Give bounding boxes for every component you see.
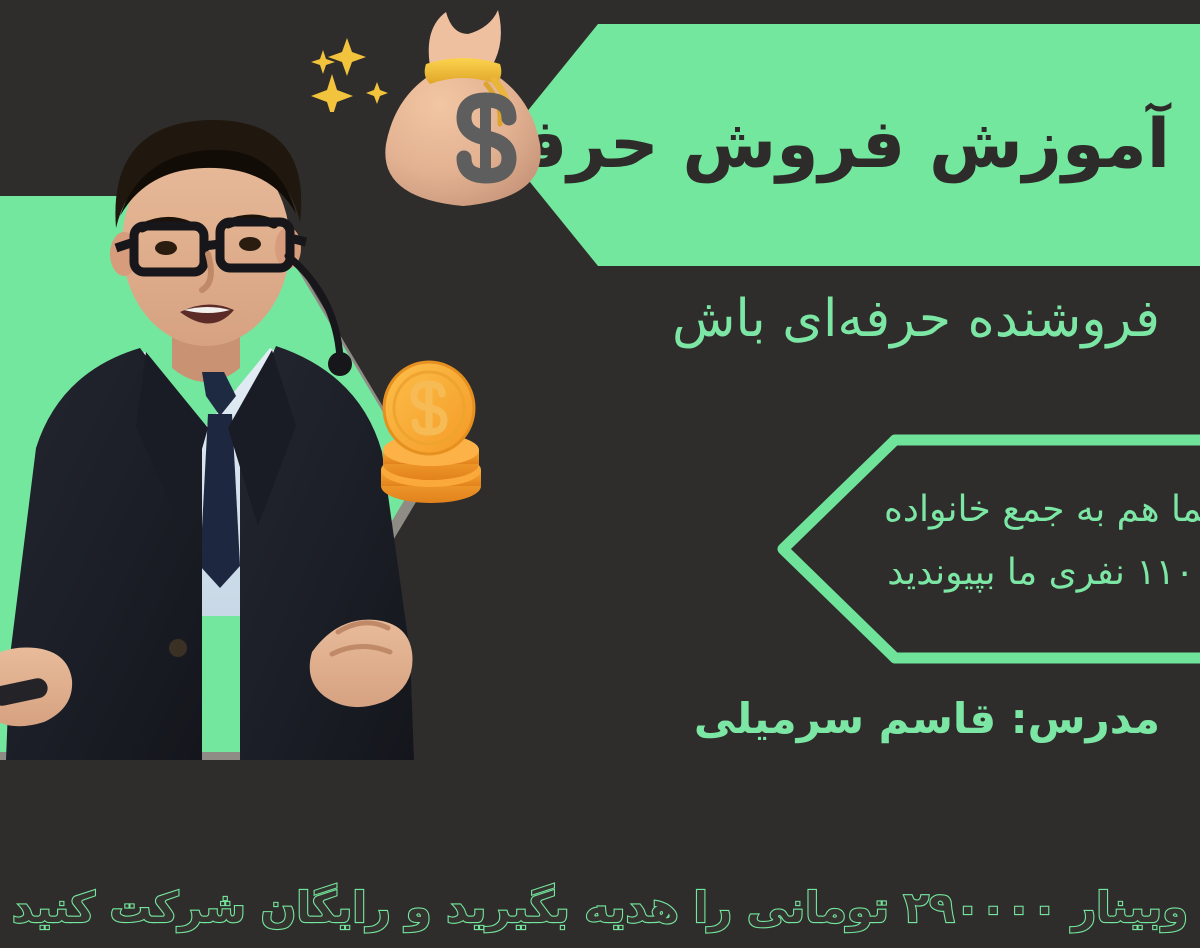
- callout-line-2: ۱۱۰۰۰ نفری ما بپیوندید: [863, 541, 1200, 604]
- poster-canvas: آموزش فروش حرفه‌ای: [0, 0, 1200, 948]
- instructor-text: مدرس: قاسم سرمیلی: [460, 694, 1160, 743]
- callout-line-1: شما هم به جمع خانواده: [863, 478, 1200, 541]
- members-callout-box: شما هم به جمع خانواده ۱۱۰۰۰ نفری ما بپیو…: [775, 432, 1200, 666]
- coin-stack-icon: [372, 358, 490, 508]
- members-callout-text: شما هم به جمع خانواده ۱۱۰۰۰ نفری ما بپیو…: [863, 478, 1200, 604]
- money-bag-icon: [368, 8, 558, 213]
- headline-banner: آموزش فروش حرفه‌ای: [500, 24, 1200, 266]
- cta-text: وبینار ۲۹۰۰۰۰ تومانی را هدیه بگیرید و را…: [0, 883, 1200, 932]
- subtitle-text: فروشنده حرفه‌ای باش: [440, 288, 1160, 350]
